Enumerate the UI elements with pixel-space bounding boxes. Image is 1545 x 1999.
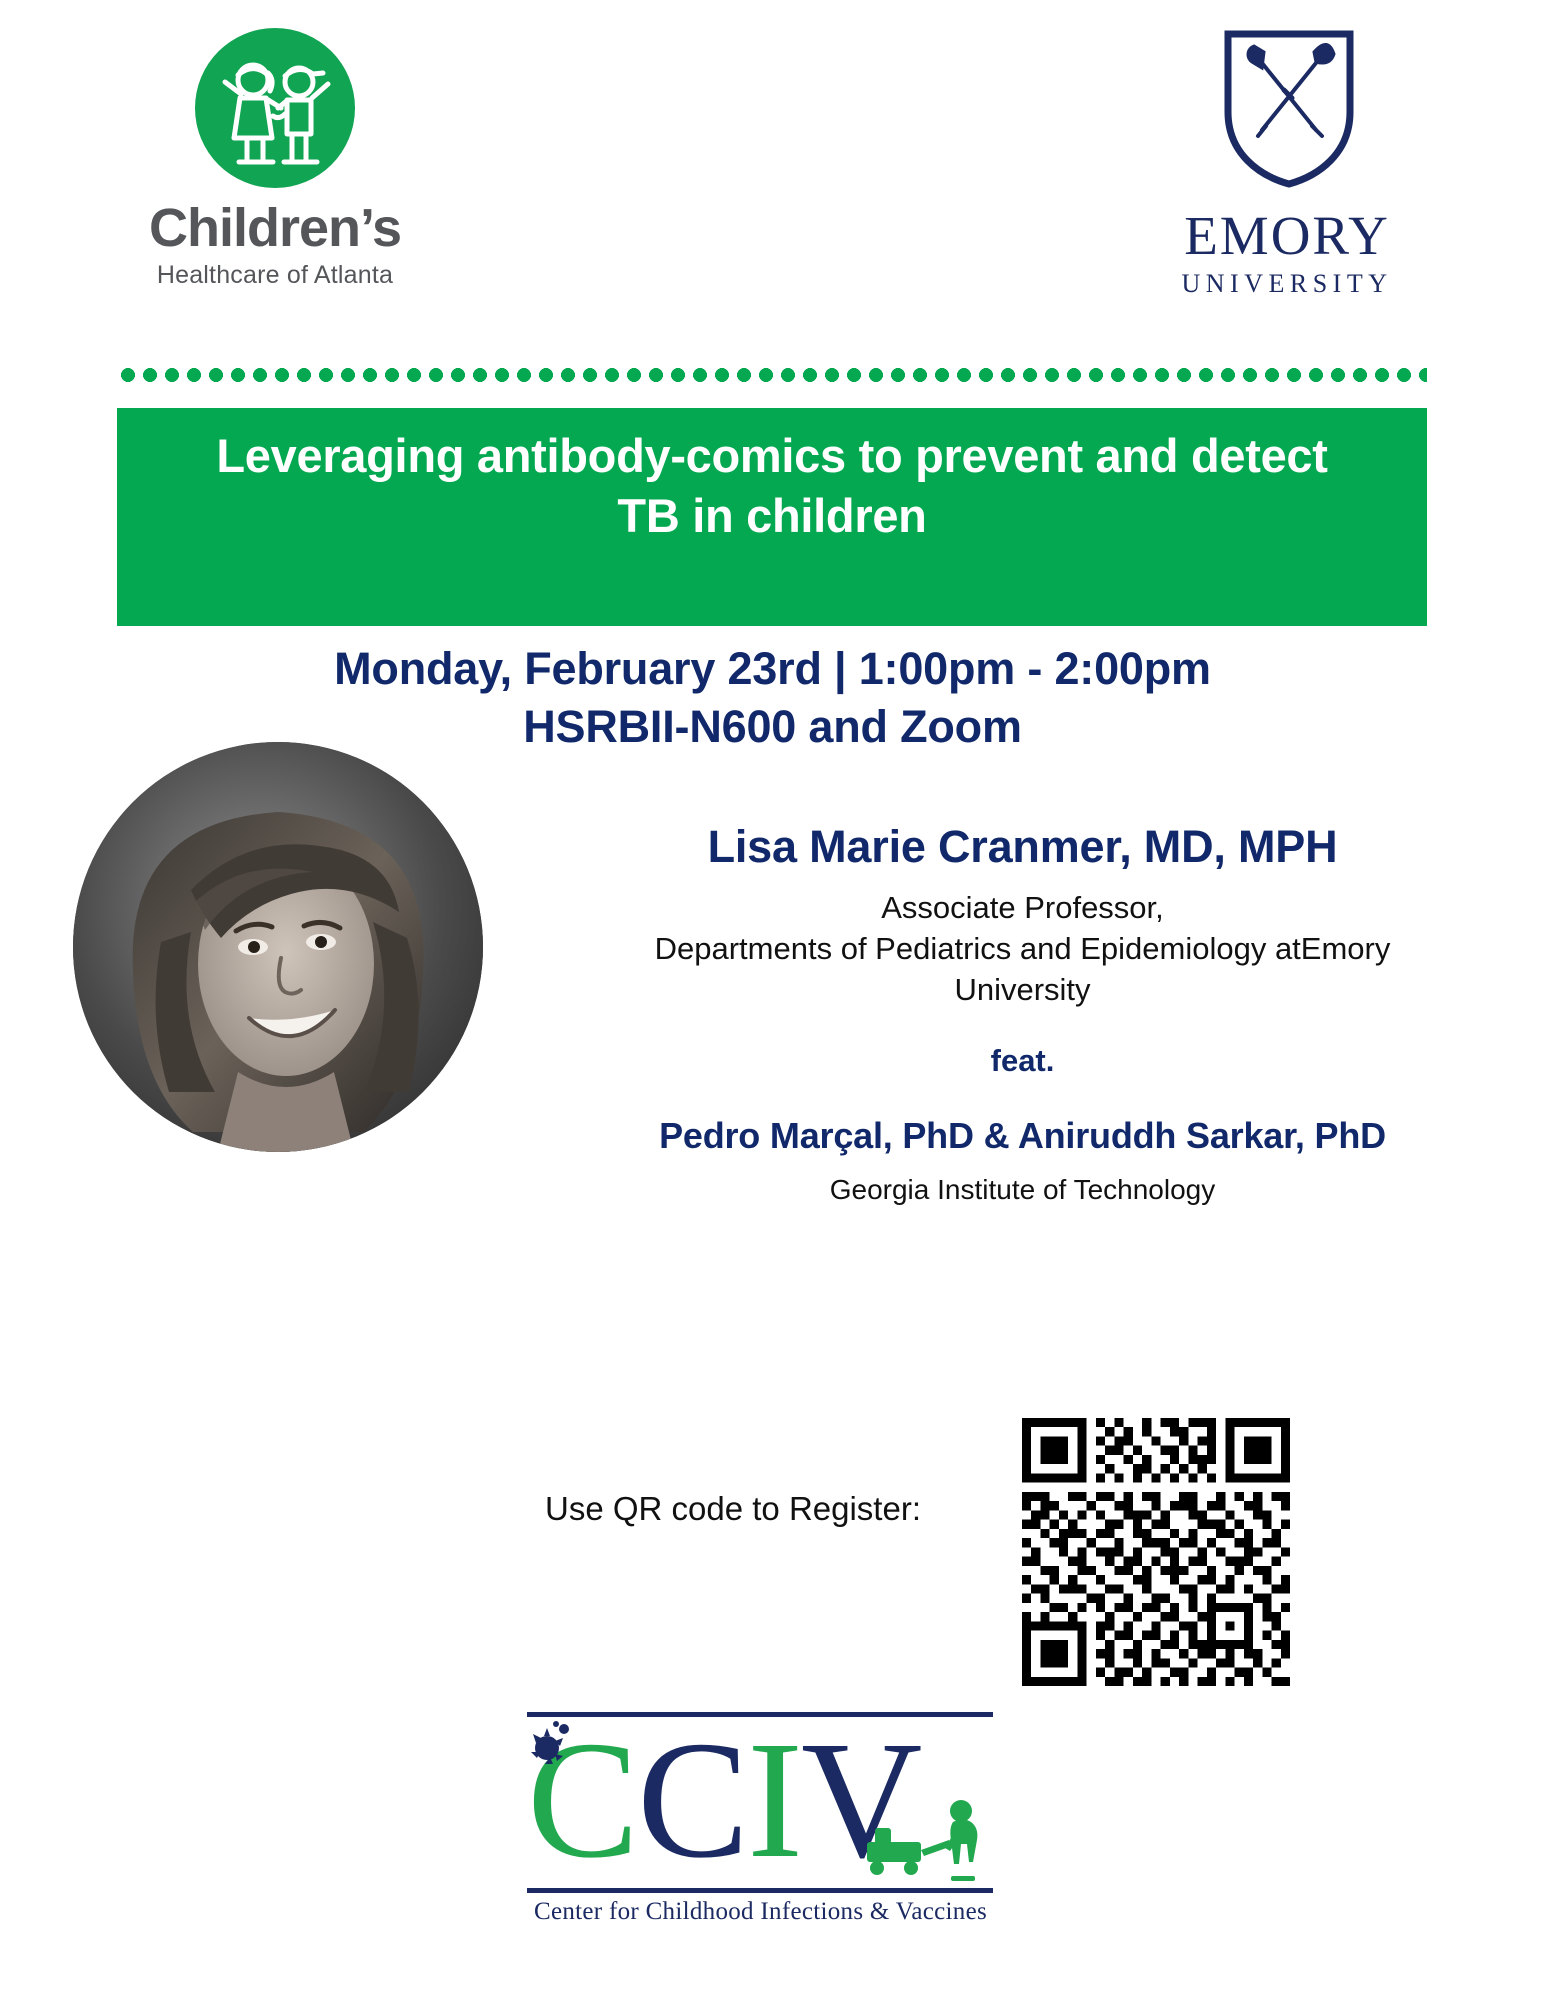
cciv-letter-3: I bbox=[747, 1707, 801, 1893]
cciv-logo: CCIV bbox=[513, 1702, 1008, 1937]
cciv-letter-2: C bbox=[637, 1707, 747, 1893]
speaker-name: Lisa Marie Cranmer, MD, MPH bbox=[530, 820, 1515, 874]
speaker-headshot bbox=[73, 742, 483, 1152]
childrens-healthcare-logo: Children’s Healthcare of Atlanta bbox=[90, 28, 460, 318]
cospeaker-affiliation: Georgia Institute of Technology bbox=[530, 1174, 1515, 1206]
childrens-logo-subtitle: Healthcare of Atlanta bbox=[90, 261, 460, 290]
registration-qr-code[interactable] bbox=[1022, 1418, 1290, 1686]
registration-row bbox=[0, 1400, 1545, 1700]
two-children-holding-hands-icon bbox=[195, 28, 355, 188]
event-datetime: Monday, February 23rd | 1:00pm - 2:00pm bbox=[0, 640, 1545, 698]
speaker-title-line-1: Associate Professor, bbox=[530, 888, 1515, 929]
featuring-label: feat. bbox=[530, 1043, 1515, 1079]
emory-wordmark: EMORY UNIVERSITY bbox=[1142, 208, 1432, 299]
speaker-title-line-3: University bbox=[530, 970, 1515, 1011]
header-logo-row: Children’s Healthcare of Atlanta bbox=[0, 0, 1545, 340]
green-dotted-divider bbox=[117, 368, 1427, 382]
cciv-tagline: Center for Childhood Infections & Vaccin… bbox=[513, 1898, 1008, 1926]
childrens-healthcare-wordmark: Children’s Healthcare of Atlanta bbox=[90, 200, 460, 290]
emory-logo-name: EMORY bbox=[1142, 208, 1432, 263]
event-title-banner: Leveraging antibody-comics to prevent an… bbox=[117, 408, 1427, 626]
event-details: Monday, February 23rd | 1:00pm - 2:00pm … bbox=[0, 640, 1545, 755]
childrens-logo-name: Children’s bbox=[90, 200, 460, 257]
virus-particle-icon bbox=[523, 1718, 575, 1770]
qr-instruction-label: Use QR code to Register: bbox=[545, 1490, 921, 1528]
speaker-title-line-2: Departments of Pediatrics and Epidemiolo… bbox=[530, 929, 1515, 970]
child-pulling-wagon-icon bbox=[865, 1798, 987, 1886]
event-title: Leveraging antibody-comics to prevent an… bbox=[182, 408, 1362, 546]
emory-university-logo: EMORY UNIVERSITY bbox=[1142, 28, 1432, 318]
emory-logo-subtitle: UNIVERSITY bbox=[1142, 269, 1432, 299]
speaker-info: Lisa Marie Cranmer, MD, MPH Associate Pr… bbox=[530, 820, 1515, 1206]
emory-shield-crest-icon bbox=[1222, 28, 1356, 190]
speaker-affiliation: Associate Professor, Departments of Pedi… bbox=[530, 888, 1515, 1011]
cospeaker-names: Pedro Marçal, PhD & Aniruddh Sarkar, PhD bbox=[530, 1113, 1515, 1158]
